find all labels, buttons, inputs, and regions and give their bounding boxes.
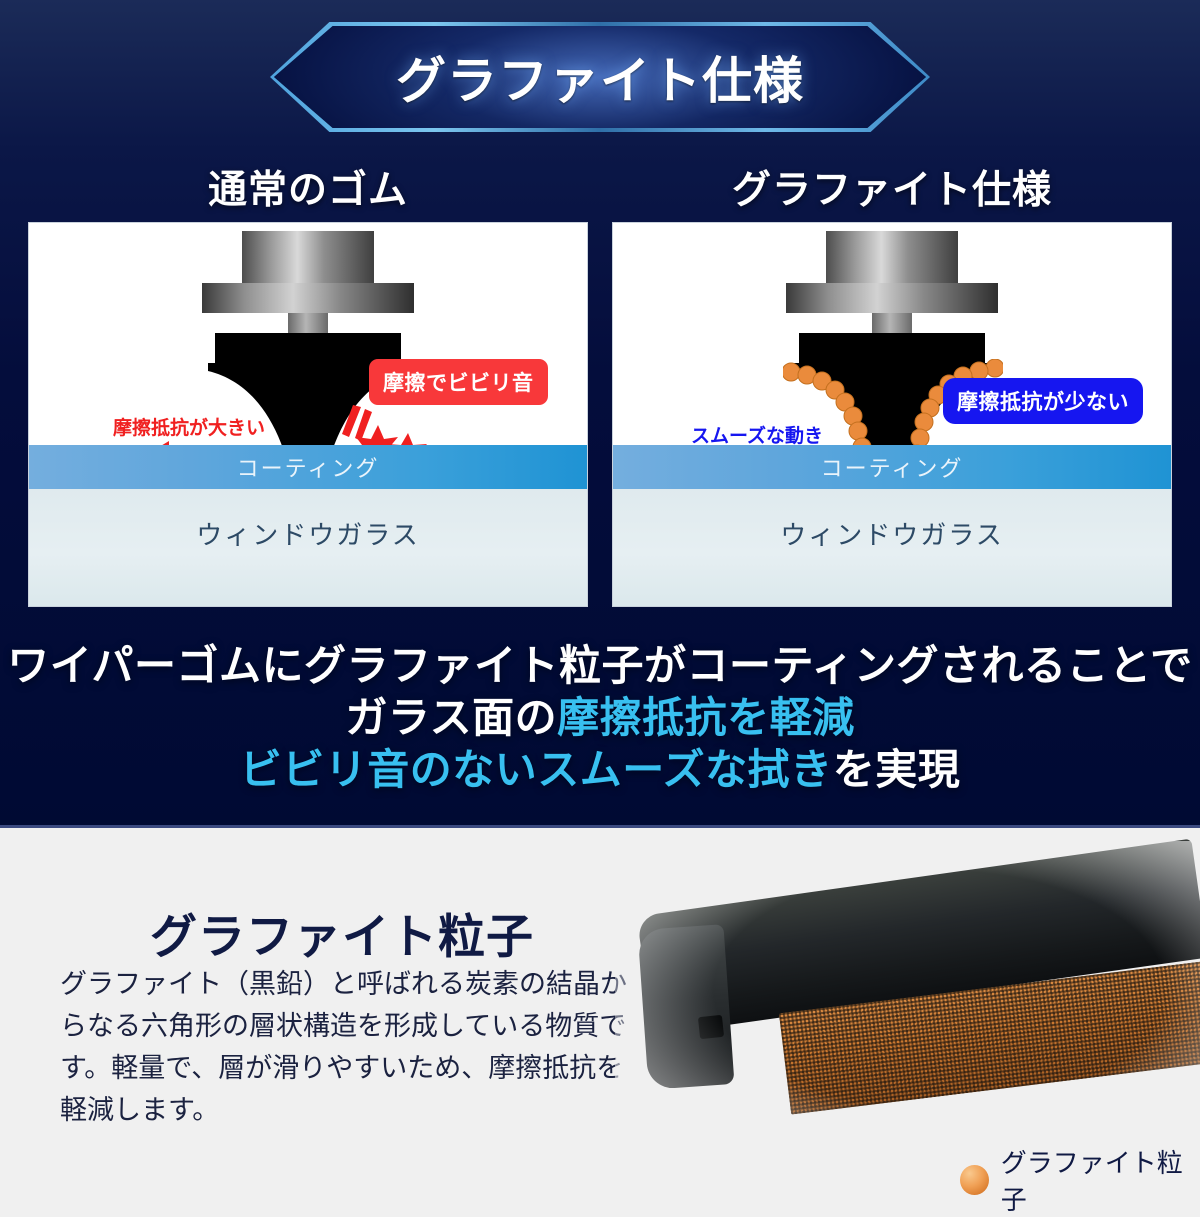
detail-body-text: グラファイト（黒鉛）と呼ばれる炭素の結晶からなる六角形の層状構造を形成している物… xyxy=(60,963,630,1131)
chatter-noise-badge: 摩擦でビビリ音 xyxy=(369,359,548,405)
glass-label-right: ウィンドウガラス xyxy=(780,520,1003,550)
summary-line-2-highlight: 摩擦抵抗を軽減 xyxy=(557,694,855,741)
wiper-holder-neck xyxy=(872,313,912,335)
summary-line-3-highlight: ビビリ音のないスムーズな拭き xyxy=(240,746,833,793)
summary-line-2: ガラス面の摩擦抵抗を軽減 xyxy=(0,692,1200,744)
wiper-holder-neck xyxy=(288,313,328,335)
left-panel-heading: 通常のゴム xyxy=(28,159,588,215)
detail-title: グラファイト粒子 xyxy=(150,898,534,967)
coating-layer-right: コーティング xyxy=(613,445,1171,489)
diagram-panel-normal-rubber: 摩擦抵抗が大きい 摩擦でビビリ音 コーティング ウィンドウガラス xyxy=(28,222,588,607)
summary-text-block: ワイパーゴムにグラファイト粒子がコーティングされることで ガラス面の摩擦抵抗を軽… xyxy=(0,640,1200,796)
wiper-holder-flange xyxy=(202,283,414,313)
summary-line-2-plain: ガラス面の xyxy=(345,694,557,741)
right-panel-heading: グラファイト仕様 xyxy=(612,159,1172,215)
friction-arrow-label: 摩擦抵抗が大きい xyxy=(113,413,265,440)
photo-vignette xyxy=(615,841,1200,1171)
bottom-legend: グラファイト粒子 xyxy=(960,1143,1200,1217)
summary-line-3-plain: を実現 xyxy=(833,746,961,793)
wiper-holder-top xyxy=(826,231,958,283)
smooth-motion-label: スムーズな動き xyxy=(691,421,823,448)
coating-label-right: コーティング xyxy=(821,451,964,483)
glass-label-left: ウィンドウガラス xyxy=(196,520,419,550)
coating-label-left: コーティング xyxy=(237,451,380,483)
graphite-particle-icon xyxy=(960,1165,989,1195)
top-dark-section: グラファイト仕様 通常のゴム グラファイト仕様 摩擦抵抗が大 xyxy=(0,0,1200,828)
diagram-panel-graphite: スムーズな動き 摩擦抵抗が少ない グラファイト粒子 コーティング ウィンドウガラ… xyxy=(612,222,1172,607)
infographic-page: グラファイト仕様 通常のゴム グラファイト仕様 摩擦抵抗が大 xyxy=(0,0,1200,1200)
summary-line-3: ビビリ音のないスムーズな拭きを実現 xyxy=(0,744,1200,796)
wiper-holder-flange xyxy=(786,283,998,313)
glass-layer-right: ウィンドウガラス xyxy=(613,489,1171,606)
wiper-blade-photo xyxy=(615,841,1200,1171)
glass-layer-left: ウィンドウガラス xyxy=(29,489,587,606)
header-banner: グラファイト仕様 xyxy=(270,22,930,132)
wiper-holder-top xyxy=(242,231,374,283)
header-title: グラファイト仕様 xyxy=(270,22,930,132)
summary-line-1: ワイパーゴムにグラファイト粒子がコーティングされることで xyxy=(0,640,1200,692)
low-friction-badge: 摩擦抵抗が少ない xyxy=(943,378,1143,424)
coating-layer-left: コーティング xyxy=(29,445,587,489)
bottom-legend-label: グラファイト粒子 xyxy=(1001,1143,1200,1217)
